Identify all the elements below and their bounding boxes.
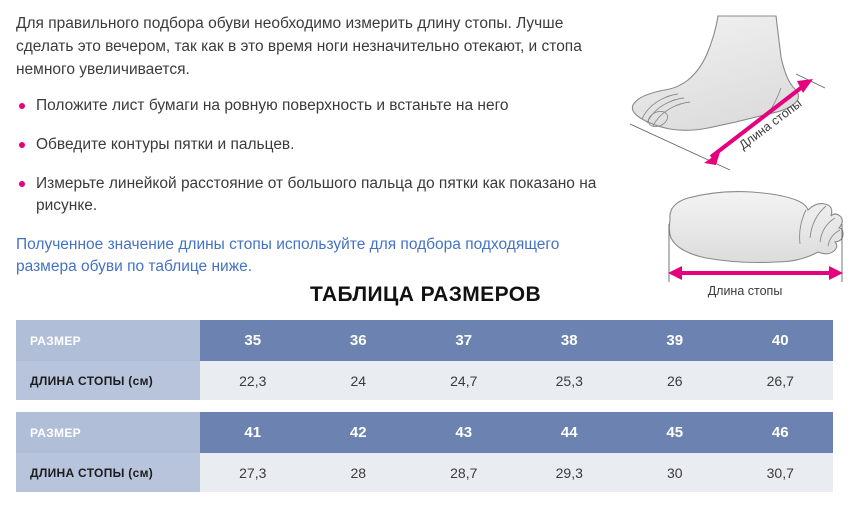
- instructions-column: Для правильного подбора обуви необходимо…: [16, 12, 616, 278]
- length-value-cell: 28: [306, 453, 412, 492]
- size-header-cell: 44: [517, 412, 623, 453]
- length-value-cell: 24: [306, 361, 412, 400]
- bullet-dot-icon: [19, 142, 25, 148]
- bullet-dot-icon: [19, 181, 25, 187]
- table-row: РАЗМЕР 41 42 43 44 45 46: [16, 412, 833, 453]
- length-value-cell: 30: [622, 453, 728, 492]
- length-value-cell: 28,7: [411, 453, 517, 492]
- step-text: Измерьте линейкой расстояние от большого…: [36, 175, 596, 214]
- length-value-cell: 30,7: [728, 453, 834, 492]
- size-header-cell: 46: [728, 412, 834, 453]
- list-item: Измерьте линейкой расстояние от большого…: [16, 173, 616, 217]
- bullet-dot-icon: [19, 103, 25, 109]
- size-header-cell: 35: [200, 320, 306, 361]
- size-header-cell: 39: [622, 320, 728, 361]
- size-row-label: РАЗМЕР: [16, 412, 200, 453]
- foot-side-view-illustration: Длина стопы: [618, 2, 851, 180]
- size-guide-page: Для правильного подбора обуви необходимо…: [0, 0, 851, 509]
- list-item: Обведите контуры пятки и пальцев.: [16, 134, 616, 156]
- size-header-cell: 40: [728, 320, 834, 361]
- length-value-cell: 26: [622, 361, 728, 400]
- size-header-cell: 38: [517, 320, 623, 361]
- size-table-1: РАЗМЕР 35 36 37 38 39 40 ДЛИНА СТОПЫ (см…: [16, 320, 833, 400]
- list-item: Положите лист бумаги на ровную поверхнос…: [16, 95, 616, 117]
- size-row-label: РАЗМЕР: [16, 320, 200, 361]
- length-row-label: ДЛИНА СТОПЫ (см): [16, 453, 200, 492]
- size-header-cell: 42: [306, 412, 412, 453]
- table-row: ДЛИНА СТОПЫ (см) 22,3 24 24,7 25,3 26 26…: [16, 361, 833, 400]
- size-header-cell: 45: [622, 412, 728, 453]
- length-value-cell: 26,7: [728, 361, 834, 400]
- size-header-cell: 37: [411, 320, 517, 361]
- size-header-cell: 41: [200, 412, 306, 453]
- dimension-label: Длина стопы: [708, 284, 783, 298]
- measurement-arrow: [668, 266, 843, 280]
- note-paragraph: Полученное значение длины стопы использу…: [16, 234, 616, 278]
- length-value-cell: 29,3: [517, 453, 623, 492]
- foot-sole-view-illustration: Длина стопы: [640, 182, 851, 304]
- length-value-cell: 24,7: [411, 361, 517, 400]
- sole-silhouette-shape: [669, 192, 843, 263]
- length-value-cell: 27,3: [200, 453, 306, 492]
- table-row: ДЛИНА СТОПЫ (см) 27,3 28 28,7 29,3 30 30…: [16, 453, 833, 492]
- intro-paragraph: Для правильного подбора обуви необходимо…: [16, 12, 616, 81]
- steps-list: Положите лист бумаги на ровную поверхнос…: [16, 95, 616, 217]
- table-row: РАЗМЕР 35 36 37 38 39 40: [16, 320, 833, 361]
- step-text: Положите лист бумаги на ровную поверхнос…: [36, 97, 509, 114]
- length-value-cell: 25,3: [517, 361, 623, 400]
- size-header-cell: 36: [306, 320, 412, 361]
- size-table-2: РАЗМЕР 41 42 43 44 45 46 ДЛИНА СТОПЫ (см…: [16, 412, 833, 492]
- size-header-cell: 43: [411, 412, 517, 453]
- step-text: Обведите контуры пятки и пальцев.: [36, 136, 294, 153]
- length-row-label: ДЛИНА СТОПЫ (см): [16, 361, 200, 400]
- length-value-cell: 22,3: [200, 361, 306, 400]
